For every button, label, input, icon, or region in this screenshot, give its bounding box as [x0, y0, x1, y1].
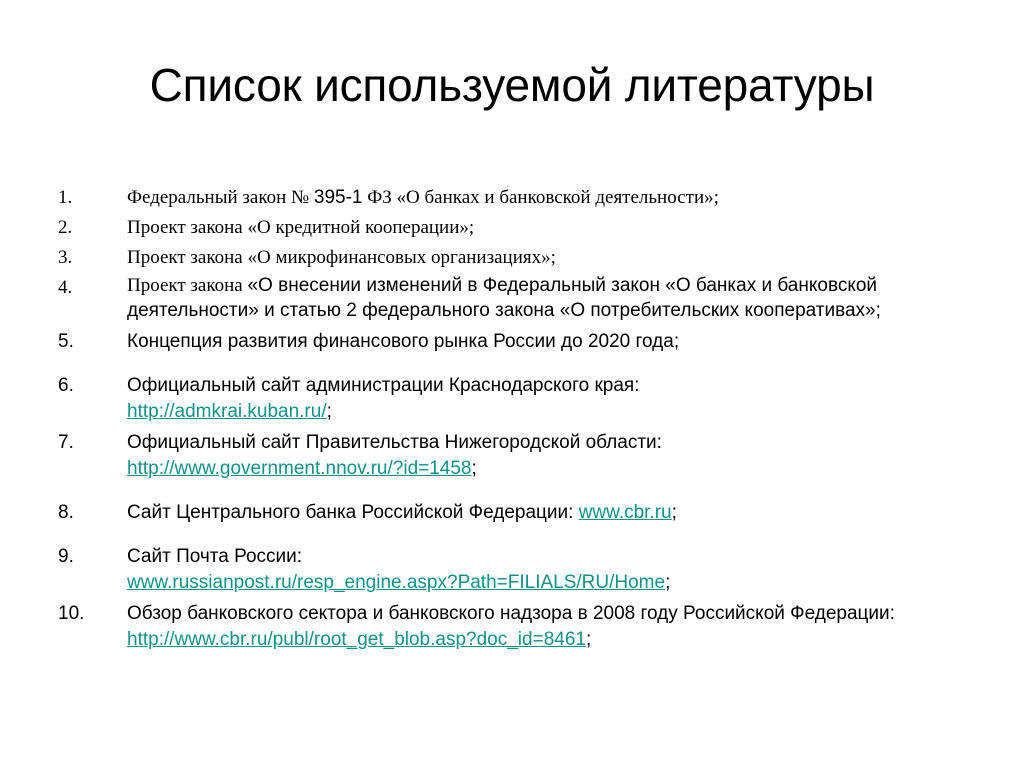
list-item-number: 5. — [44, 327, 114, 357]
list-item: 2. Проект закона «О кредитной кооперации… — [44, 213, 984, 243]
list-item-number: 6. — [44, 373, 114, 399]
list-item-label: Сайт Центрального банка Российской Федер… — [127, 502, 579, 523]
list-item-number: 10. — [44, 601, 114, 627]
list-item-lead: Проект закона — [127, 275, 247, 296]
list-item-label: Официальный сайт Правительства Нижегород… — [127, 432, 662, 453]
list-item: 7. Официальный сайт Правительства Нижего… — [44, 430, 984, 482]
list-item-punctuation: ; — [586, 629, 591, 650]
list-item: 6. Официальный сайт администрации Красно… — [44, 373, 984, 425]
reference-list: 1. Федеральный закон № 395-1 ФЗ «О банка… — [44, 183, 984, 653]
list-item: 9. Сайт Почта России:www.russianpost.ru/… — [44, 544, 984, 596]
external-link[interactable]: http://admkrai.kuban.ru/ — [127, 401, 327, 422]
external-link[interactable]: http://www.government.nnov.ru/?id=1458 — [127, 458, 472, 479]
list-item-text: Проект закона «О кредитной кооперации»; — [114, 213, 984, 243]
list-item-lead: Федеральный закон № — [127, 187, 314, 208]
list-item-number: 3. — [44, 243, 114, 273]
list-item: 3. Проект закона «О микрофинансовых орга… — [44, 243, 984, 273]
list-item-text: Федеральный закон № 395-1 ФЗ «О банках и… — [114, 183, 984, 213]
list-item-number: 2. — [44, 213, 114, 243]
list-item-punctuation: ; — [672, 502, 677, 523]
list-item: 10. Обзор банковского сектора и банковск… — [44, 601, 984, 653]
external-link[interactable]: www.russianpost.ru/resp_engine.aspx?Path… — [127, 572, 665, 593]
list-item-number: 7. — [44, 430, 114, 456]
list-item-punctuation: ; — [665, 572, 670, 593]
list-item-number: 8. — [44, 500, 114, 526]
list-item-text: Сайт Центрального банка Российской Федер… — [114, 500, 984, 526]
list-item-text: Официальный сайт Правительства Нижегород… — [114, 430, 984, 482]
list-item-number: 4. — [44, 273, 114, 303]
list-item-label: Сайт Почта России: — [127, 546, 302, 567]
list-item-text: Проект закона «О внесении изменений в Фе… — [114, 273, 984, 323]
list-item: 5. Концепция развития финансового рынка … — [44, 327, 984, 357]
list-item-text: Официальный сайт администрации Краснодар… — [114, 373, 984, 425]
list-item-punctuation: ; — [327, 401, 332, 422]
external-link[interactable]: http://www.cbr.ru/publ/root_get_blob.asp… — [127, 629, 586, 650]
slide-canvas: Список используемой литературы 1. Федера… — [0, 0, 1024, 768]
list-item-label: Обзор банковского сектора и банковского … — [127, 603, 895, 624]
list-item-text: Концепция развития финансового рынка Рос… — [114, 327, 984, 357]
external-link[interactable]: www.cbr.ru — [579, 502, 672, 523]
list-item-text: Проект закона «О микрофинансовых организ… — [114, 243, 984, 273]
list-item: 4. Проект закона «О внесении изменений в… — [44, 273, 984, 323]
list-item-tail: ФЗ «О банках и банковской деятельности»; — [363, 187, 719, 208]
law-code: 395-1 — [314, 187, 363, 208]
page-title: Список используемой литературы — [64, 57, 960, 113]
list-item: 1. Федеральный закон № 395-1 ФЗ «О банка… — [44, 183, 984, 213]
list-item-text: Сайт Почта России:www.russianpost.ru/res… — [114, 544, 984, 596]
list-item: 8. Сайт Центрального банка Российской Фе… — [44, 500, 984, 526]
list-item-punctuation: ; — [472, 458, 477, 479]
list-item-number: 1. — [44, 183, 114, 213]
list-item-text: Обзор банковского сектора и банковского … — [114, 601, 984, 653]
list-item-label: Официальный сайт администрации Краснодар… — [127, 375, 639, 396]
list-item-number: 9. — [44, 544, 114, 570]
